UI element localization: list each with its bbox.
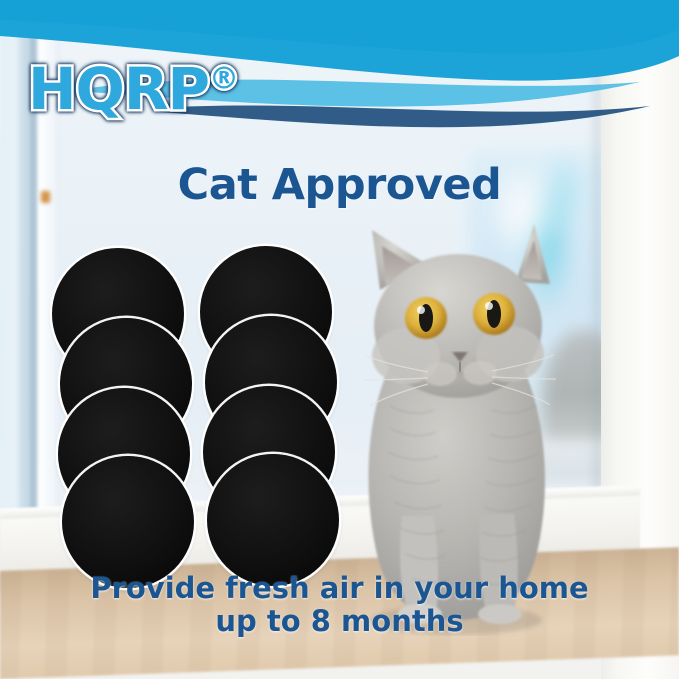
product-marketing-image: HQRP® Cat Approved Provide fresh air in …	[0, 0, 679, 679]
caption-line-1: Provide fresh air in your home	[90, 571, 588, 605]
carbon-filter-disc	[207, 454, 339, 586]
carbon-filter-disc	[62, 456, 194, 588]
caption-line-2: up to 8 months	[0, 605, 679, 637]
caption-block: Provide fresh air in your home up to 8 m…	[0, 572, 679, 637]
